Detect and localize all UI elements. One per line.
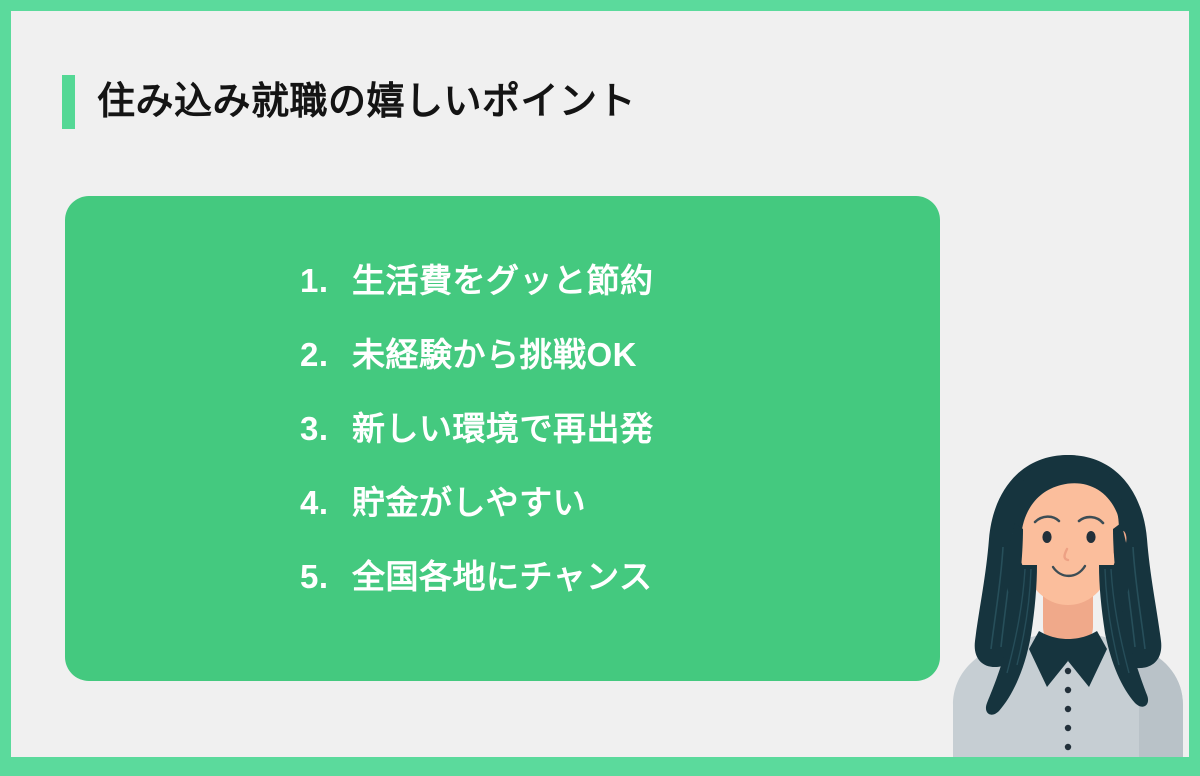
- list-item-number: 1.: [300, 262, 352, 300]
- list-item: 5. 全国各地にチャンス: [300, 550, 940, 624]
- title-accent-bar: [62, 75, 75, 129]
- list-item-label: 新しい環境で再出発: [352, 402, 654, 450]
- list-item-number: 2.: [300, 336, 352, 374]
- page-title-text: 住み込み就職の嬉しいポイント: [97, 83, 636, 121]
- slide-frame: 住み込み就職の嬉しいポイント 1. 生活費をグッと節約 2. 未経験から挑戦OK…: [0, 0, 1200, 776]
- list-item-number: 3.: [300, 410, 352, 448]
- list-item-label: 貯金がしやすい: [352, 476, 586, 524]
- list-item-label: 全国各地にチャンス: [352, 550, 653, 598]
- list-item-label: 生活費をグッと節約: [352, 254, 654, 302]
- page-title: 住み込み就職の嬉しいポイント: [62, 75, 636, 129]
- list-item-number: 5.: [300, 558, 352, 596]
- woman-portrait-illustration: [943, 437, 1189, 757]
- list-item-number: 4.: [300, 484, 352, 522]
- points-list: 1. 生活費をグッと節約 2. 未経験から挑戦OK 3. 新しい環境で再出発 4…: [65, 196, 940, 681]
- list-item: 2. 未経験から挑戦OK: [300, 328, 940, 402]
- list-item: 1. 生活費をグッと節約: [300, 254, 940, 328]
- list-item-label: 未経験から挑戦OK: [352, 328, 637, 376]
- slide-canvas: 住み込み就職の嬉しいポイント 1. 生活費をグッと節約 2. 未経験から挑戦OK…: [11, 11, 1189, 757]
- list-item: 4. 貯金がしやすい: [300, 476, 940, 550]
- points-card: 1. 生活費をグッと節約 2. 未経験から挑戦OK 3. 新しい環境で再出発 4…: [65, 196, 940, 681]
- list-item: 3. 新しい環境で再出発: [300, 402, 940, 476]
